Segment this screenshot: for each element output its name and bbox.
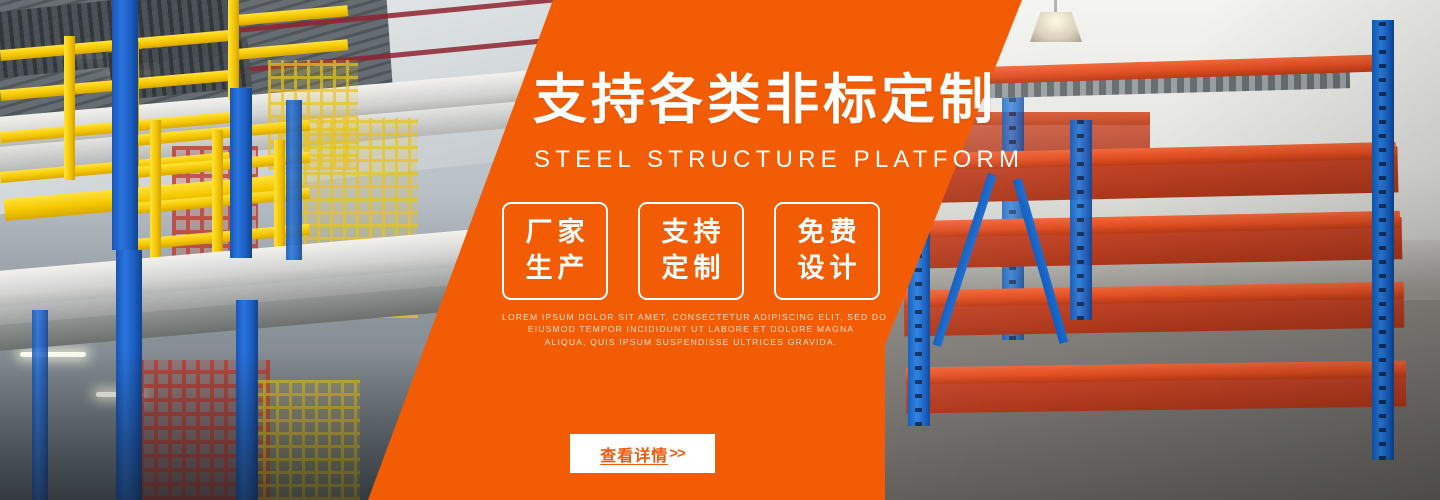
lorem-line-3: ALIQUA, QUIS IPSUM SUSPENDISSE ULTRICES …: [502, 336, 880, 348]
badge-line-2: 定制: [657, 251, 726, 287]
badge-free-design[interactable]: 免费 设计: [774, 202, 880, 300]
view-details-button[interactable]: 查看详情 >>: [570, 434, 715, 473]
lorem-paragraph: LOREM IPSUM DOLOR SIT AMET, CONSECTETUR …: [502, 311, 880, 348]
platform-column: [112, 0, 138, 250]
lorem-line-2: EIUSMOD TEMPOR INCIDIDUNT UT LABORE ET D…: [502, 323, 880, 335]
badge-line-1: 支持: [657, 215, 726, 251]
badge-line-2: 设计: [793, 251, 862, 287]
subheadline: STEEL STRUCTURE PLATFORM: [534, 146, 1024, 174]
badge-manufacturer[interactable]: 厂家 生产: [502, 202, 608, 300]
platform-column: [286, 100, 302, 260]
headline: 支持各类非标定制: [533, 73, 997, 127]
badge-customization[interactable]: 支持 定制: [638, 202, 744, 300]
platform-column: [230, 88, 252, 258]
badge-line-1: 免费: [793, 215, 862, 251]
guard-rail-post: [64, 36, 75, 180]
double-chevron-right-icon: >>: [669, 445, 685, 462]
feature-badges: 厂家 生产 支持 定制 免费 设计: [502, 202, 880, 300]
view-details-label: 查看详情: [600, 442, 668, 466]
lorem-line-1: LOREM IPSUM DOLOR SIT AMET, CONSECTETUR …: [502, 311, 880, 323]
badge-line-2: 生产: [521, 251, 590, 287]
promo-banner: 支持各类非标定制 STEEL STRUCTURE PLATFORM 厂家 生产 …: [0, 0, 1440, 500]
guard-rail-post: [228, 0, 239, 100]
badge-line-1: 厂家: [521, 215, 590, 251]
